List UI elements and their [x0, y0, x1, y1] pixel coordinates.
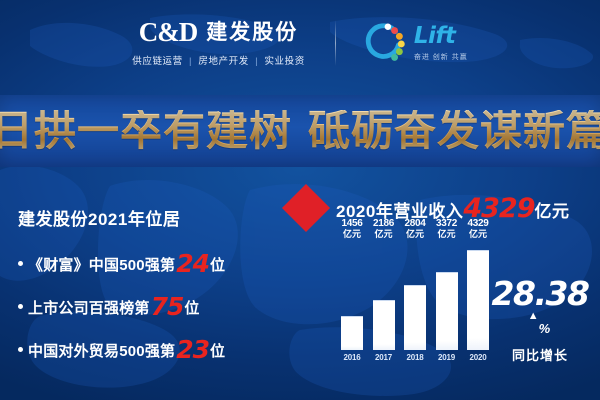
bar-value-label: 2804 亿元	[404, 219, 425, 239]
growth-percent-sign: %	[539, 321, 551, 336]
bar-value: 2804	[404, 219, 425, 230]
bar-value-label: 4329 亿元	[467, 219, 488, 239]
brand-header: C&D 建发股份 供应链运营 | 房地产开发 | 实业投资	[0, 0, 600, 86]
tagline-part-3: 实业投资	[264, 56, 304, 67]
bar-column: 2186 亿元	[373, 247, 395, 350]
bullet-dot-icon	[18, 304, 23, 309]
ranking-suffix: 位	[184, 297, 199, 318]
bar-value: 1456	[341, 219, 362, 230]
rankings-title: 建发股份2021年位居	[18, 205, 286, 230]
bar-value-label: 1456 亿元	[341, 219, 362, 239]
ranking-number: 24	[175, 249, 210, 278]
ranking-label: 上市公司百强榜第	[28, 297, 150, 318]
ranking-label: 中国对外贸易500强第	[28, 340, 175, 361]
bar-unit: 亿元	[373, 230, 394, 239]
revenue-bar-chart: 1456 亿元 2186 亿元 2804 亿元	[341, 247, 489, 367]
cd-brand-name-cn: 建发股份	[206, 22, 298, 43]
bar-value: 2186	[373, 219, 394, 230]
bar-rect	[373, 300, 395, 350]
x-tick-label: 2016	[341, 353, 363, 367]
x-tick-label: 2017	[373, 353, 395, 367]
bar-column: 2804 亿元	[404, 247, 426, 350]
header-divider	[335, 20, 336, 66]
cd-logo-mark: C&D	[139, 19, 198, 46]
ranking-item: 中国对外贸易500强第23位	[18, 333, 286, 362]
bar-unit: 亿元	[467, 230, 488, 239]
bar-unit: 亿元	[436, 230, 457, 239]
bullet-dot-icon	[18, 347, 23, 352]
revenue-unit: 亿元	[534, 202, 569, 221]
bar-rect	[436, 272, 458, 350]
lift-text-wrap: Lift 奋进 创新 共赢	[414, 25, 468, 62]
growth-panel: 28.38▲% 同比增长	[486, 277, 594, 364]
bullet-dot-icon	[18, 261, 23, 266]
bar-unit: 亿元	[404, 230, 425, 239]
ranking-item: 《财富》中国500强第24位	[18, 247, 286, 276]
infographic-poster: C&D 建发股份 供应链运营 | 房地产开发 | 实业投资	[0, 0, 600, 400]
bar-value-label: 3372 亿元	[436, 219, 457, 239]
growth-caption: 同比增长	[486, 345, 594, 364]
bar-unit: 亿元	[341, 230, 362, 239]
bar-value: 4329	[467, 219, 488, 230]
cd-brand-lockup: C&D 建发股份	[139, 19, 299, 46]
ranking-number: 75	[150, 292, 185, 321]
lift-brand-block: Lift 奋进 创新 共赢	[352, 20, 468, 66]
growth-value-row: 28.38▲%	[486, 277, 594, 338]
tagline-separator-1: |	[189, 56, 192, 67]
rankings-panel: 建发股份2021年位居 《财富》中国500强第24位 上市公司百强榜第75位 中…	[18, 205, 286, 376]
chart-bars: 1456 亿元 2186 亿元 2804 亿元	[341, 247, 489, 350]
lift-subtitle-cn: 奋进 创新 共赢	[414, 52, 468, 62]
x-tick-label: 2018	[404, 353, 426, 367]
ranking-number: 23	[175, 335, 210, 364]
bar-rect	[404, 285, 426, 350]
ranking-suffix: 位	[210, 340, 225, 361]
bar-value: 3372	[436, 219, 457, 230]
headline-line-right: 砥砺奋发谋新篇	[308, 106, 600, 155]
tagline-part-1: 供应链运营	[132, 56, 183, 67]
headline-line-left: 日拱一卒有建树	[0, 106, 292, 155]
lift-wordmark: Lift	[414, 25, 456, 48]
bar-column: 1456 亿元	[341, 247, 363, 350]
ranking-label: 《财富》中国500强第	[28, 254, 175, 275]
bar-value-label: 2186 亿元	[373, 219, 394, 239]
chart-x-axis: 2016 2017 2018 2019 2020	[341, 353, 489, 367]
ranking-item: 上市公司百强榜第75位	[18, 290, 286, 319]
tagline-part-2: 房地产开发	[198, 56, 249, 67]
ranking-suffix: 位	[210, 254, 225, 275]
red-diamond-icon	[282, 184, 330, 232]
lift-ring-icon	[362, 20, 408, 66]
bar-rect	[341, 316, 363, 350]
growth-value: 28.38	[492, 277, 589, 310]
main-headline: 日拱一卒有建树砥砺奋发谋新篇	[0, 110, 600, 152]
headline-band: 日拱一卒有建树砥砺奋发谋新篇	[0, 95, 600, 167]
cd-brand-block: C&D 建发股份 供应链运营 | 房地产开发 | 实业投资	[132, 19, 319, 67]
cd-brand-tagline: 供应链运营 | 房地产开发 | 实业投资	[132, 53, 305, 67]
lower-content: 建发股份2021年位居 《财富》中国500强第24位 上市公司百强榜第75位 中…	[0, 167, 600, 400]
tagline-separator-2: |	[255, 56, 258, 67]
bar-column: 3372 亿元	[436, 247, 458, 350]
x-tick-label: 2019	[436, 353, 458, 367]
growth-up-arrow-icon: ▲	[528, 310, 539, 322]
